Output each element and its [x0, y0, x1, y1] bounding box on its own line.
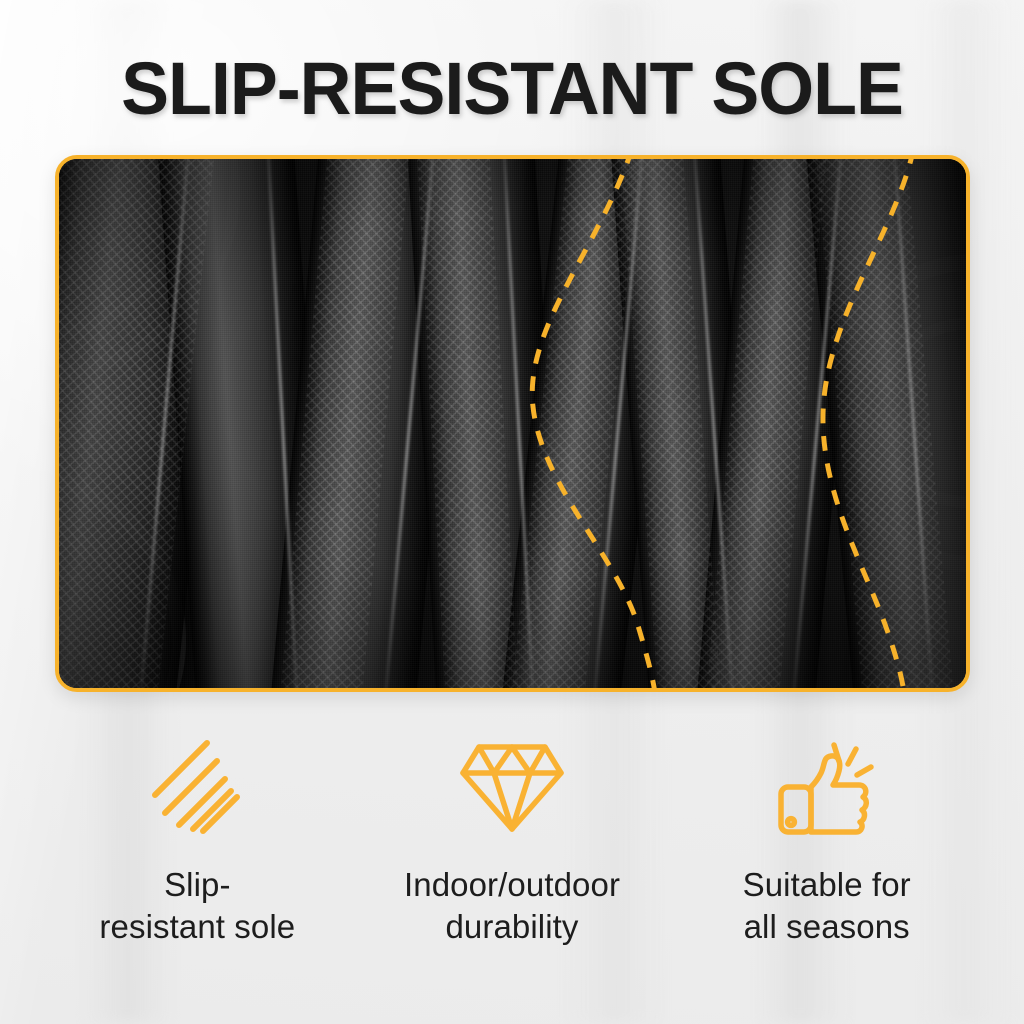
- thumbs-up-icon: [771, 726, 883, 844]
- page-title: SLIP-RESISTANT SOLE: [15, 46, 1008, 131]
- feature-item-indoor-outdoor-durability: Indoor/outdoor durability: [355, 726, 670, 966]
- sole-photo: [59, 159, 966, 688]
- feature-list: Slip- resistant sole Indoor/outdo: [40, 726, 984, 966]
- product-feature-card: SLIP-RESISTANT SOLE: [0, 0, 1024, 1024]
- feature-item-slip-resistant-sole: Slip- resistant sole: [40, 726, 355, 966]
- feature-item-all-seasons: Suitable for all seasons: [669, 726, 984, 966]
- diagonal-tread-lines-icon: [145, 726, 249, 844]
- annotation-overlay: [59, 159, 966, 688]
- diamond-gem-icon: [456, 726, 568, 844]
- product-image-panel: [55, 155, 970, 692]
- annotation-dashed-line-1: [532, 159, 656, 688]
- feature-label: Slip- resistant sole: [99, 864, 295, 948]
- feature-label: Suitable for all seasons: [743, 864, 911, 948]
- feature-label: Indoor/outdoor durability: [404, 864, 620, 948]
- annotation-dashed-line-2: [823, 159, 914, 688]
